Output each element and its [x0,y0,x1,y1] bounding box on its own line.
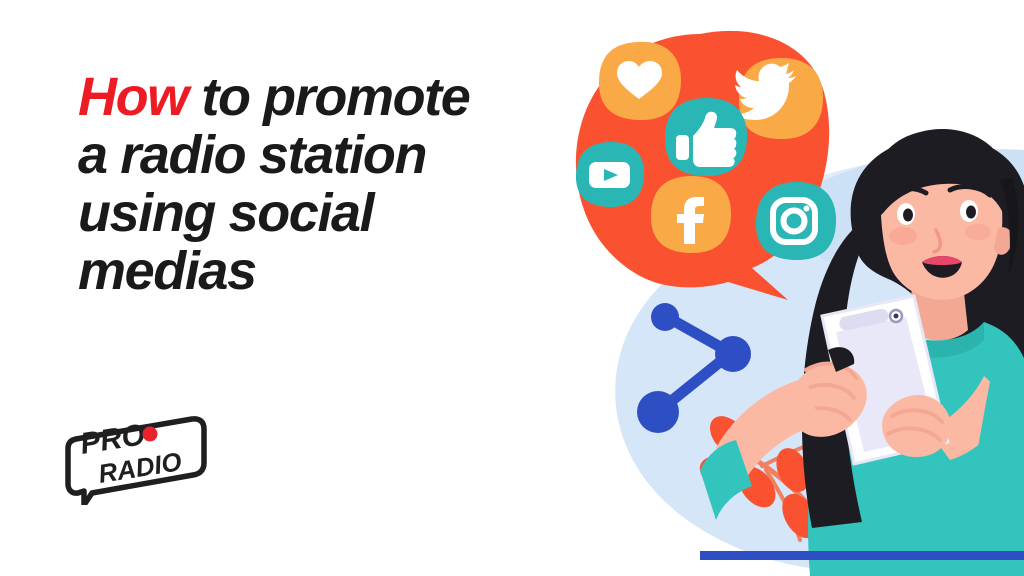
headline-line-1-rest: to promote [188,67,470,127]
headline-line-3: using social [78,184,598,242]
headline-line-1: How to promote [78,68,598,126]
page-title: How to promote a radio station using soc… [78,68,598,300]
headline-line-2: a radio station [78,126,598,184]
pro-radio-logo[interactable]: PRO RADIO [62,405,212,505]
thumbs-up-icon[interactable] [665,98,747,176]
heart-icon[interactable] [599,42,681,120]
logo-dot [143,427,158,442]
bottom-rule [700,551,1024,560]
headline-line-4: medias [78,242,598,300]
promo-banner: How to promote a radio station using soc… [0,0,1024,576]
instagram-icon[interactable] [756,182,836,260]
facebook-icon[interactable] [651,176,731,253]
headline-accent-word: How [78,67,188,127]
